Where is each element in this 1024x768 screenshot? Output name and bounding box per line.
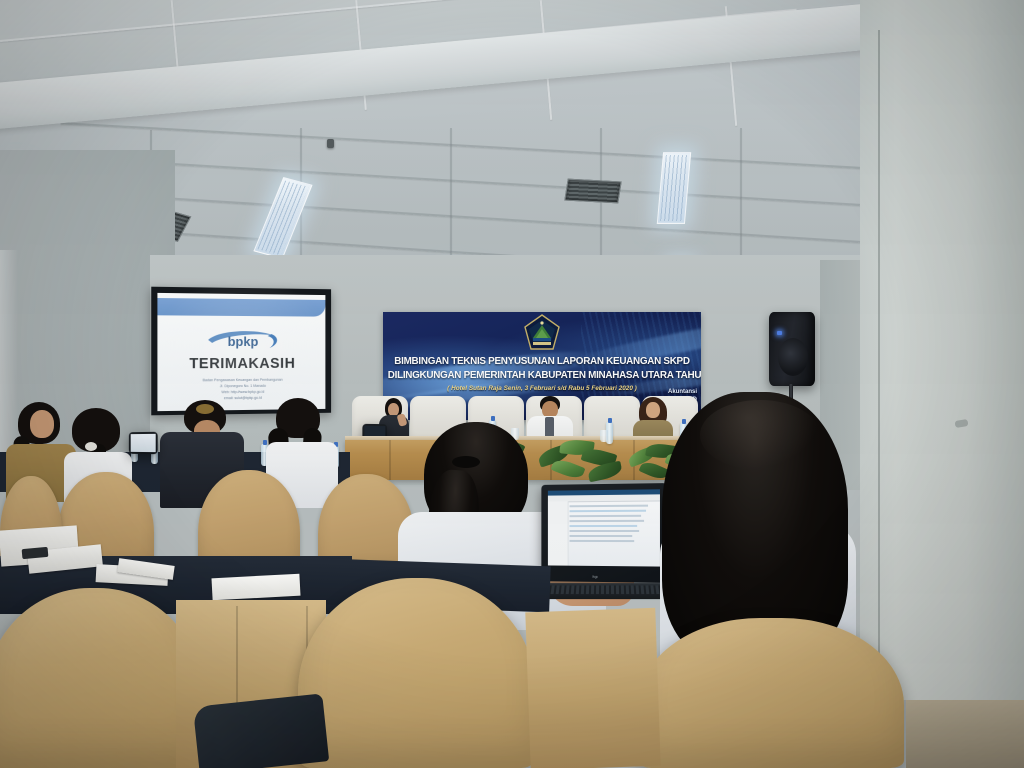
bpkp-logo: bpkp [202,324,283,354]
foreground-chair-right-skirt [525,608,660,768]
laptop-display [548,489,660,566]
speaker-cone [778,338,808,376]
structural-pillar [860,0,1024,700]
banner-line-3: ( Hotel Sutan Raja Senin, 3 Februari s/d… [383,385,701,392]
projection-screen: bpkp TERIMAKASIH Badan Pengawasan Keuang… [151,287,331,416]
slide-headline: TERIMAKASIH [157,356,325,372]
spreadsheet-row-headers [548,501,569,565]
foreground-chair-left [0,588,204,768]
foreground-chair-right [638,618,904,768]
banner-side-line-1: Akuntansi [668,388,697,396]
attendee-laptop-left [129,432,158,454]
hp-brand-logo: hp [592,574,598,579]
banner-line-2: DILINGKUNGAN PEMERINTAH KABUPATEN MINAHA… [388,370,696,381]
hair-tie [452,456,480,468]
fire-sprinkler [327,139,334,148]
pa-speaker [769,312,815,386]
paper-sheet [211,574,300,601]
projection-screen-surface: bpkp TERIMAKASIH Badan Pengawasan Keuang… [157,293,325,411]
conference-room-photo: bpkp TERIMAKASIH Badan Pengawasan Keuang… [0,0,1024,768]
slide-header-bar [157,298,325,317]
floor [906,700,1024,768]
banner-line-1: BIMBINGAN TEKNIS PENYUSUNAN LAPORAN KEUA… [388,356,696,367]
hair-highlight [700,400,820,470]
ceiling-air-vent [564,179,621,204]
bpkp-logo-text: bpkp [228,334,259,349]
bag-under-table [193,693,329,768]
minahasa-utara-emblem [524,314,560,352]
speaker-power-led [777,331,782,335]
potted-plant [536,438,630,484]
